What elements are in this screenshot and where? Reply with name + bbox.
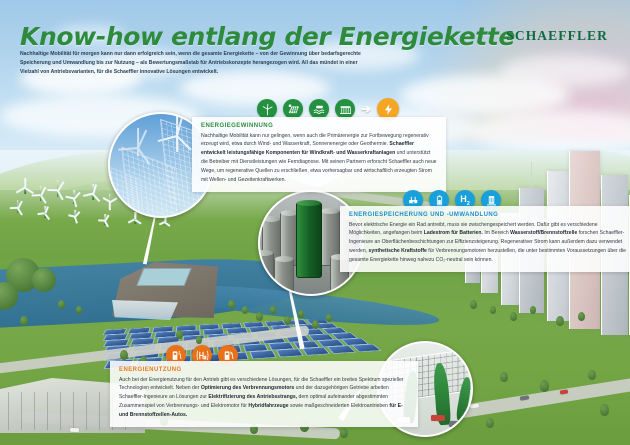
tree bbox=[578, 312, 585, 321]
wind-turbine-icon[interactable] bbox=[257, 99, 277, 119]
tree bbox=[242, 306, 248, 314]
tree bbox=[298, 310, 304, 318]
wave-power-icon[interactable] bbox=[309, 99, 329, 119]
tree bbox=[76, 306, 82, 314]
tree bbox=[470, 300, 477, 309]
dam-roof bbox=[136, 268, 191, 286]
callout-body: Auch bei der Energienutzung für den Antr… bbox=[119, 376, 409, 421]
wind-turbine bbox=[70, 210, 80, 221]
wind-turbine bbox=[50, 180, 65, 197]
wind-turbine bbox=[12, 200, 24, 213]
tree bbox=[312, 320, 319, 329]
car bbox=[70, 428, 79, 432]
tree bbox=[58, 300, 65, 309]
infographic-poster: Know-how entlang der Energiekette Nachha… bbox=[0, 0, 630, 445]
solar-panel bbox=[276, 349, 304, 358]
hydro-plant-icon[interactable] bbox=[335, 99, 355, 119]
battery-cell-highlighted bbox=[296, 202, 322, 278]
tree bbox=[600, 404, 609, 416]
callout-heading: ENERGIESPEICHERUNG UND -UMWANDLUNG bbox=[349, 212, 630, 218]
callout-heading: ENERGIEGEWINNUNG bbox=[201, 123, 437, 129]
h2-label: H2 bbox=[460, 194, 470, 207]
solar-panel-icon[interactable] bbox=[283, 99, 303, 119]
callout-body: Nachhaltige Mobilität kann nur gelingen,… bbox=[201, 132, 437, 185]
cloud bbox=[500, 55, 630, 87]
tree bbox=[490, 306, 496, 314]
tree bbox=[326, 314, 332, 322]
tree bbox=[284, 316, 291, 325]
wind-turbine bbox=[86, 184, 100, 200]
tree bbox=[540, 380, 549, 392]
wind-turbine bbox=[100, 214, 110, 225]
car bbox=[449, 421, 462, 427]
svg-text:2: 2 bbox=[203, 355, 206, 360]
tree bbox=[228, 300, 235, 309]
wind-turbine bbox=[68, 190, 81, 204]
solar-panel bbox=[302, 347, 331, 356]
page-subtitle: Nachhaltige Mobilität für morgen kann nu… bbox=[20, 50, 370, 76]
callout-energiegewinnung: ENERGIEGEWINNUNG Nachhaltige Mobilität k… bbox=[192, 117, 446, 192]
arrow-right-icon: ➔ bbox=[361, 103, 371, 115]
dam-spillway bbox=[112, 300, 178, 320]
building-spire bbox=[531, 162, 533, 188]
tree bbox=[176, 330, 183, 339]
car bbox=[431, 415, 445, 421]
battery-cell bbox=[258, 252, 274, 296]
callout-heading: ENERGIENUTZUNG bbox=[119, 367, 409, 373]
schaeffler-logo: SCHAEFFLER bbox=[506, 28, 608, 44]
wind-turbine bbox=[18, 178, 32, 194]
page-title: Know-how entlang der Energiekette bbox=[20, 22, 515, 51]
tree bbox=[530, 306, 536, 314]
battery-cell bbox=[274, 258, 294, 296]
callout-energiespeicherung: ENERGIESPEICHERUNG UND -UMWANDLUNG Bevor… bbox=[340, 206, 630, 272]
tree bbox=[270, 306, 276, 314]
solar-panel bbox=[249, 350, 276, 359]
solar-panel bbox=[327, 345, 356, 353]
tree bbox=[256, 312, 263, 321]
tree bbox=[510, 312, 517, 321]
wind-turbine bbox=[40, 206, 51, 218]
wind-turbine bbox=[34, 186, 48, 201]
callout-energienutzung: ENERGIENUTZUNG Auch bei der Energienutzu… bbox=[110, 361, 418, 427]
callout-body: Bevor elektrische Energie ein Rad antrei… bbox=[349, 221, 630, 266]
tree bbox=[196, 336, 202, 344]
tree-large bbox=[32, 268, 56, 292]
